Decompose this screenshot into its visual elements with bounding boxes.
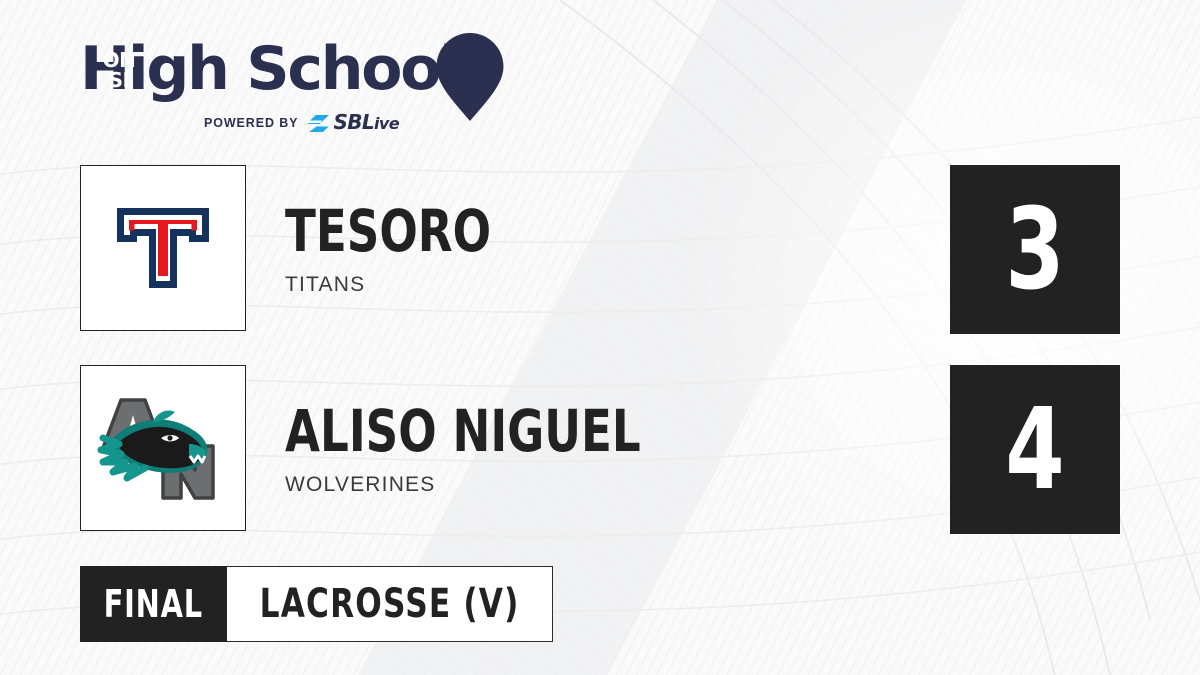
pin-label-on: ON (80, 50, 158, 70)
sblive-logo: SBLive (307, 112, 399, 134)
powered-by-label: POWERED BY (204, 116, 298, 130)
team-name: ALISO NIGUEL (285, 402, 641, 460)
sblive-s-mark-icon (307, 114, 331, 133)
on-si-pin-icon (431, 31, 509, 123)
team-row: ALISO NIGUEL WOLVERINES 4 (80, 365, 1120, 534)
team-mascot: WOLVERINES (285, 473, 741, 497)
aliso-niguel-wolverine-logo-icon (81, 366, 245, 530)
scoreboard-graphic: High School ON SI POWERED BY SBLive (0, 0, 1200, 675)
team-score: 4 (1005, 394, 1064, 506)
background-glow (560, 0, 1200, 675)
pin-label-si: SI (80, 70, 158, 90)
team-mascot: TITANS (285, 273, 549, 297)
team-logo-box (80, 165, 246, 331)
team-name: TESORO (285, 202, 491, 260)
sport-label: LACROSSE (V) (260, 584, 520, 624)
team-score: 3 (1005, 194, 1064, 306)
team-logo-box (80, 365, 246, 531)
game-state-badge: FINAL (80, 566, 227, 642)
team-score-box: 3 (950, 165, 1120, 334)
sblive-wordmark-bold: SBL (333, 110, 374, 134)
team-identity: TESORO TITANS (285, 165, 549, 334)
powered-by-row: POWERED BY SBLive (204, 113, 399, 133)
game-state-label: FINAL (104, 585, 203, 623)
sblive-wordmark-light: ive (374, 114, 399, 133)
team-score-box: 4 (950, 365, 1120, 534)
sblive-wordmark: SBLive (333, 112, 399, 134)
tesoro-block-t-logo-icon (81, 166, 245, 330)
team-row: TESORO TITANS 3 (80, 165, 1120, 334)
sport-panel: LACROSSE (V) (227, 566, 553, 642)
game-status-bar: FINAL LACROSSE (V) (80, 566, 553, 642)
team-identity: ALISO NIGUEL WOLVERINES (285, 365, 741, 534)
brand-lockup: High School ON SI POWERED BY SBLive (80, 34, 510, 134)
